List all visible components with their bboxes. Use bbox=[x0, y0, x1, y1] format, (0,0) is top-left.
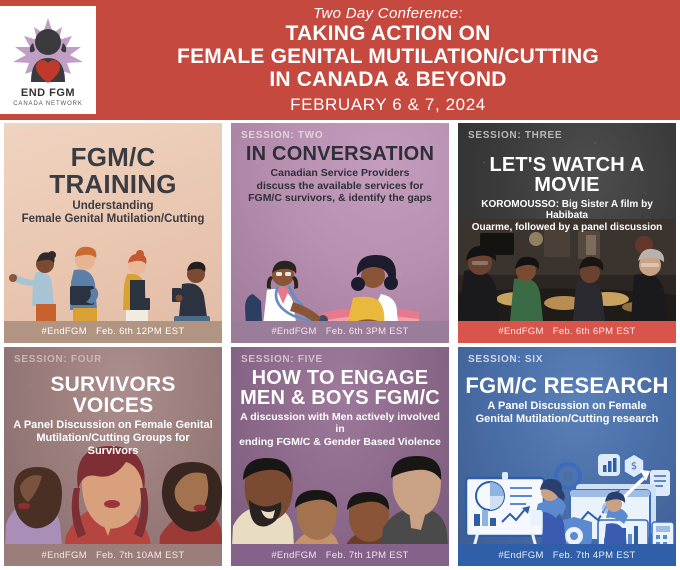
session-datetime: Feb. 6th 6PM EST bbox=[553, 326, 636, 337]
card-text-block: SESSION: TWO IN CONVERSATION Canadian Se… bbox=[231, 123, 449, 204]
session-title-line2: TRAINING bbox=[10, 171, 216, 198]
session-title: SURVIVORS VOICES bbox=[10, 374, 216, 417]
session-title: LET'S WATCH A MOVIE bbox=[464, 155, 670, 196]
session-card-five[interactable]: SESSION: FIVE HOW TO ENGAGE MEN & BOYS F… bbox=[231, 347, 449, 567]
session-footer: #EndFGM Feb. 6th 12PM EST bbox=[4, 321, 222, 343]
session-title: HOW TO ENGAGE MEN & BOYS FGM/C bbox=[237, 368, 443, 409]
maple-leaf-figure-heart-icon bbox=[9, 14, 87, 90]
session-subtitle-line2: ending FGM/C & Gender Based Violence bbox=[237, 436, 443, 448]
session-subtitle-line1: Canadian Service Providers bbox=[237, 167, 443, 179]
header-text-block: Two Day Conference: TAKING ACTION ON FEM… bbox=[96, 0, 680, 120]
session-title-line1: LET'S WATCH A MOVIE bbox=[464, 155, 670, 196]
session-hashtag: #EndFGM bbox=[271, 550, 316, 561]
session-hashtag: #EndFGM bbox=[42, 326, 87, 337]
session-title-line2: MEN & BOYS FGM/C bbox=[237, 388, 443, 408]
session-grid: SESSION:ONE FGM/C TRAINING Understanding… bbox=[0, 120, 680, 570]
session-subtitle: KOROMOUSSO: Big Sister A film by Habibat… bbox=[464, 199, 670, 234]
session-subtitle-line1: A discussion with Men actively involved … bbox=[237, 411, 443, 435]
session-title: IN CONVERSATION bbox=[237, 144, 443, 164]
session-title: FGM/C TRAINING bbox=[10, 144, 216, 197]
session-subtitle-line2: Mutilation/Cutting Groups for Survivors bbox=[10, 432, 216, 458]
session-label: SESSION: SIX bbox=[464, 354, 670, 365]
session-title-line1: IN CONVERSATION bbox=[237, 144, 443, 164]
card-text-block: SESSION: FIVE HOW TO ENGAGE MEN & BOYS F… bbox=[231, 347, 449, 448]
session-footer: #EndFGM Feb. 7th 1PM EST bbox=[231, 544, 449, 566]
session-subtitle-line1: A Panel Discussion on Female bbox=[464, 400, 670, 413]
session-subtitle-line2: Ouarme, followed by a panel discussion bbox=[464, 222, 670, 234]
session-card-four[interactable]: SESSION: FOUR SURVIVORS VOICES A Panel D… bbox=[4, 347, 222, 567]
session-subtitle-line2: Female Genital Mutilation/Cutting bbox=[10, 213, 216, 226]
session-subtitle-line3: FGM/C survivors, & identify the gaps bbox=[237, 192, 443, 204]
session-footer: #EndFGM Feb. 7th 4PM EST bbox=[458, 544, 676, 566]
poster-header: END FGM CANADA NETWORK Two Day Conferenc… bbox=[0, 0, 680, 120]
session-datetime: Feb. 7th 4PM EST bbox=[553, 550, 636, 561]
header-title-line2: FEMALE GENITAL MUTILATION/CUTTING bbox=[177, 46, 599, 69]
card-text-block: SESSION: THREE LET'S WATCH A MOVIE KOROM… bbox=[458, 123, 676, 234]
header-kicker: Two Day Conference: bbox=[313, 5, 463, 22]
session-subtitle-line1: KOROMOUSSO: Big Sister A film by Habibat… bbox=[464, 199, 670, 222]
session-subtitle-line2: Genital Mutilation/Cutting research bbox=[464, 413, 670, 426]
session-datetime: Feb. 7th 1PM EST bbox=[326, 550, 409, 561]
header-title-line3: IN CANADA & BEYOND bbox=[269, 69, 506, 92]
session-footer: #EndFGM Feb. 6th 6PM EST bbox=[458, 321, 676, 343]
svg-text:$: $ bbox=[631, 461, 637, 472]
card-text-block: SESSION: FOUR SURVIVORS VOICES A Panel D… bbox=[4, 347, 222, 458]
session-card-one[interactable]: SESSION:ONE FGM/C TRAINING Understanding… bbox=[4, 123, 222, 343]
session-title: FGM/C RESEARCH bbox=[464, 375, 670, 397]
conference-poster: END FGM CANADA NETWORK Two Day Conferenc… bbox=[0, 0, 680, 570]
session-label: SESSION: TWO bbox=[237, 130, 443, 141]
organization-logo: END FGM CANADA NETWORK bbox=[0, 6, 96, 114]
session-subtitle-line1: Understanding bbox=[10, 200, 216, 213]
session-label: SESSION:ONE bbox=[10, 130, 216, 141]
session-card-two[interactable]: SESSION: TWO IN CONVERSATION Canadian Se… bbox=[231, 123, 449, 343]
session-hashtag: #EndFGM bbox=[498, 550, 543, 561]
session-subtitle: Canadian Service Providers discuss the a… bbox=[237, 167, 443, 204]
session-footer: #EndFGM Feb. 6th 3PM EST bbox=[231, 321, 449, 343]
session-label: SESSION: FOUR bbox=[10, 354, 216, 365]
session-subtitle: A discussion with Men actively involved … bbox=[237, 411, 443, 448]
session-subtitle-line2: discuss the available services for bbox=[237, 180, 443, 192]
session-hashtag: #EndFGM bbox=[498, 326, 543, 337]
session-label: SESSION: THREE bbox=[464, 130, 670, 141]
session-datetime: Feb. 6th 12PM EST bbox=[96, 326, 185, 337]
card-text-block: SESSION:ONE FGM/C TRAINING Understanding… bbox=[4, 123, 222, 227]
header-title-line1: TAKING ACTION ON bbox=[285, 23, 490, 46]
card-text-block: SESSION: SIX FGM/C RESEARCH A Panel Disc… bbox=[458, 347, 676, 426]
session-card-six[interactable]: $ bbox=[458, 347, 676, 567]
session-subtitle-line1: A Panel Discussion on Female Genital bbox=[10, 419, 216, 432]
session-title-line1: FGM/C RESEARCH bbox=[464, 375, 670, 397]
session-subtitle: A Panel Discussion on Female Genital Mut… bbox=[10, 419, 216, 457]
session-subtitle: Understanding Female Genital Mutilation/… bbox=[10, 200, 216, 227]
session-title-line1: FGM/C bbox=[10, 144, 216, 171]
session-datetime: Feb. 6th 3PM EST bbox=[326, 326, 409, 337]
session-title-line1: HOW TO ENGAGE bbox=[237, 368, 443, 388]
people-dining-table-photo bbox=[458, 219, 676, 321]
session-footer: #EndFGM Feb. 7th 10AM EST bbox=[4, 544, 222, 566]
session-label: SESSION: FIVE bbox=[237, 354, 443, 365]
logo-subtitle: CANADA NETWORK bbox=[13, 101, 83, 107]
session-datetime: Feb. 7th 10AM EST bbox=[96, 550, 185, 561]
session-subtitle: A Panel Discussion on Female Genital Mut… bbox=[464, 400, 670, 426]
header-date: FEBRUARY 6 & 7, 2024 bbox=[290, 95, 486, 115]
session-title-line1: SURVIVORS VOICES bbox=[10, 374, 216, 417]
session-hashtag: #EndFGM bbox=[42, 550, 87, 561]
session-card-three[interactable]: SESSION: THREE LET'S WATCH A MOVIE KOROM… bbox=[458, 123, 676, 343]
session-hashtag: #EndFGM bbox=[271, 326, 316, 337]
